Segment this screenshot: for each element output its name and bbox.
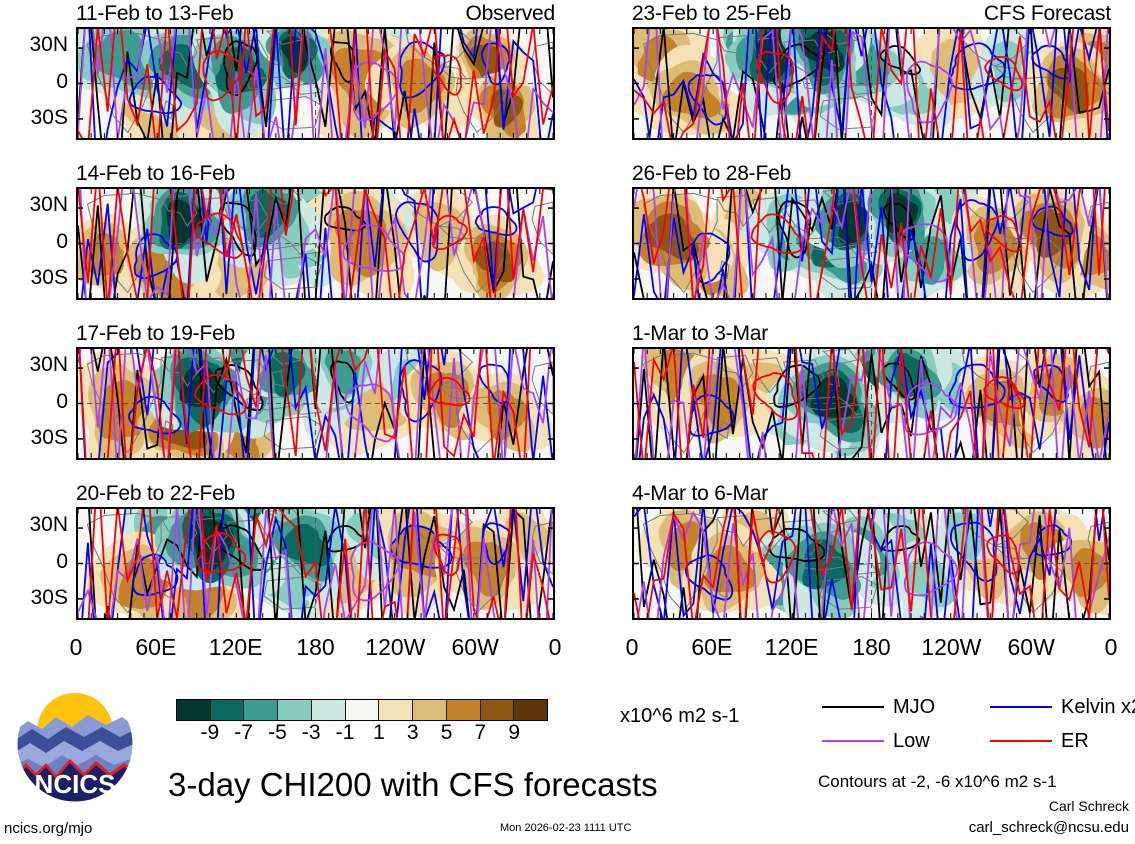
map-plot-area-p8[interactable] [632,507,1111,620]
colorbar-tick: -7 [234,721,253,745]
column-header-right: CFS Forecast [632,2,1111,26]
y-tick-label: 30N [6,353,68,377]
ncics-logo: NCICS [14,683,136,805]
map-plot-area-p5[interactable] [632,27,1111,140]
contour-legend: MJO Kelvin x2 Low ER [822,690,1135,758]
colorbar-swatch [514,700,547,720]
legend-line-low [822,740,884,742]
legend-row: MJO Kelvin x2 [822,690,1135,724]
page-title: 3-day CHI200 with CFS forecasts [168,766,658,804]
y-tick-label: 30N [6,513,68,537]
x-tick-label: 0 [1061,634,1135,661]
y-tick-label: 0 [6,390,68,414]
colorbar-swatches [176,699,548,721]
colorbar-swatch [211,700,245,720]
legend-label-mjo: MJO [893,696,935,719]
colorbar-swatch [346,700,380,720]
colorbar-tick: 9 [508,721,520,745]
y-tick-label: 30S [6,266,68,290]
panel-title-p8: 4-Mar to 6-Mar [632,482,768,506]
figure-canvas: 11-Feb to 13-FebObserved30N030S14-Feb to… [0,0,1135,844]
y-tick-label: 30N [6,193,68,217]
panel-title-p2: 14-Feb to 16-Feb [76,162,235,186]
author-name: Carl Schreck [1049,798,1129,814]
colorbar-swatch [177,700,211,720]
colorbar-swatch [447,700,481,720]
y-tick-label: 30S [6,586,68,610]
legend-item-low: Low [822,730,990,753]
contour-note: Contours at -2, -6 x10^6 m2 s-1 [818,772,1057,792]
colorbar-tick: -1 [336,721,355,745]
logo-label: NCICS [35,769,116,799]
colorbar-swatch [413,700,447,720]
map-plot-area-p7[interactable] [632,347,1111,460]
legend-label-low: Low [893,730,930,753]
colorbar: -9-7-5-3-113579 [176,699,548,747]
colorbar-tick: 5 [441,721,453,745]
map-plot-area-p4[interactable] [76,507,555,620]
panel-title-p3: 17-Feb to 19-Feb [76,322,235,346]
legend-item-er: ER [990,730,1135,753]
map-plot-area-p1[interactable] [76,27,555,140]
colorbar-tick-labels: -9-7-5-3-113579 [176,721,548,747]
colorbar-tick: -3 [302,721,321,745]
legend-line-er [990,740,1052,742]
map-plot-area-p3[interactable] [76,347,555,460]
colorbar-tick: 7 [475,721,487,745]
y-tick-label: 0 [6,70,68,94]
legend-label-er: ER [1061,730,1089,753]
legend-row: Low ER [822,724,1135,758]
author-email: carl_schreck@ncsu.edu [969,819,1129,836]
panel-title-p7: 1-Mar to 3-Mar [632,322,768,346]
panel-title-p4: 20-Feb to 22-Feb [76,482,235,506]
map-plot-area-p6[interactable] [632,187,1111,300]
legend-line-kelvin [990,706,1052,708]
y-tick-label: 30N [6,33,68,57]
y-tick-label: 30S [6,426,68,450]
y-tick-label: 0 [6,550,68,574]
y-tick-label: 30S [6,106,68,130]
colorbar-tick: -9 [200,721,219,745]
colorbar-units-label: x10^6 m2 s-1 [620,705,739,728]
timestamp: Mon 2026-02-23 1111 UTC [500,822,631,834]
legend-label-kelvin: Kelvin x2 [1061,696,1135,719]
colorbar-swatch [244,700,278,720]
y-tick-label: 0 [6,230,68,254]
colorbar-tick: 1 [373,721,385,745]
legend-line-mjo [822,706,884,708]
colorbar-swatch [379,700,413,720]
legend-item-kelvin: Kelvin x2 [990,696,1135,719]
column-header-left: Observed [76,2,555,26]
panel-title-p6: 26-Feb to 28-Feb [632,162,791,186]
colorbar-tick: 3 [407,721,419,745]
colorbar-tick: -5 [268,721,287,745]
legend-item-mjo: MJO [822,696,990,719]
site-url-link[interactable]: ncics.org/mjo [4,820,92,837]
colorbar-swatch [481,700,515,720]
map-plot-area-p2[interactable] [76,187,555,300]
colorbar-swatch [278,700,312,720]
colorbar-swatch [312,700,346,720]
